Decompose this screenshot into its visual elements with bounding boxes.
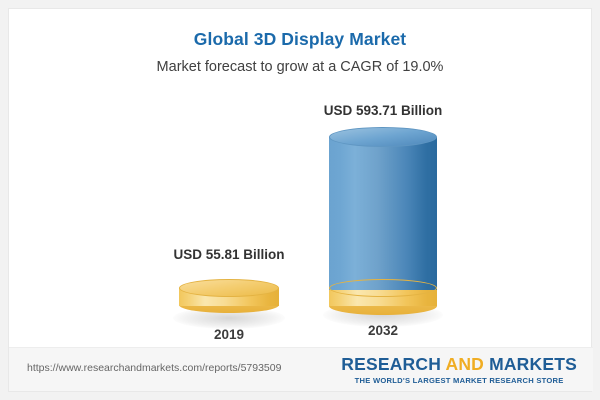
cylinder-2019[interactable] xyxy=(179,279,279,321)
cylinder-top-2019 xyxy=(179,279,279,297)
bar-group-2032: USD 593.71 Billion 2032 xyxy=(321,101,445,349)
cylinder-base-divider-2032 xyxy=(329,279,437,297)
bar-value-label-2032: USD 593.71 Billion xyxy=(303,103,463,118)
category-label-2019: 2019 xyxy=(179,327,279,342)
cylinder-growth-segment-2032 xyxy=(329,137,437,290)
logo-word-research: RESEARCH xyxy=(341,354,441,374)
cylinder-2032[interactable] xyxy=(329,127,437,319)
logo-word-markets: MARKETS xyxy=(489,354,577,374)
report-url[interactable]: https://www.researchandmarkets.com/repor… xyxy=(27,362,281,374)
infographic-root: Global 3D Display Market Market forecast… xyxy=(0,0,600,400)
bar-group-2019: USD 55.81 Billion 2019 xyxy=(171,239,287,349)
logo-word-and: AND xyxy=(445,354,484,374)
chart-card: Global 3D Display Market Market forecast… xyxy=(8,8,592,392)
cylinder-top-2032 xyxy=(329,127,437,147)
category-label-2032: 2032 xyxy=(329,323,437,338)
footer-bar: https://www.researchandmarkets.com/repor… xyxy=(9,347,593,391)
logo-wordmark: RESEARCH AND MARKETS xyxy=(341,354,577,375)
chart-plot-area: USD 55.81 Billion 2019 USD 593.71 Billio… xyxy=(9,9,593,349)
bar-value-label-2019: USD 55.81 Billion xyxy=(153,247,305,262)
logo-tagline: THE WORLD'S LARGEST MARKET RESEARCH STOR… xyxy=(341,376,577,385)
brand-logo[interactable]: RESEARCH AND MARKETS THE WORLD'S LARGEST… xyxy=(341,354,577,385)
